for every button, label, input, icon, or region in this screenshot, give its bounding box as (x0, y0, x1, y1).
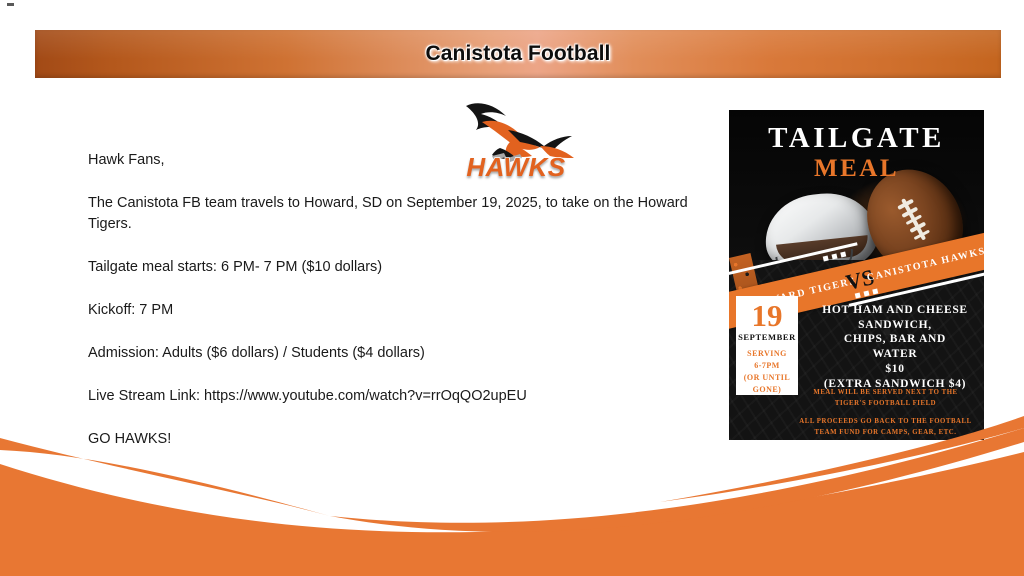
bottom-swoosh (0, 416, 1024, 576)
date-month: SEPTEMBER (736, 332, 798, 342)
flyer-title: TAILGATE MEAL (729, 124, 984, 184)
flyer-note-proceeds: ALL PROCEEDS GO BACK TO THE FOOTBALL TEA… (791, 417, 980, 439)
hawks-wordmark: HAWKS (448, 152, 584, 183)
tailgate-flyer: TAILGATE MEAL HOWARD TIGERS VS CANISTOTA… (729, 110, 984, 440)
flyer-note-location: MEAL WILL BE SERVED NEXT TO THE TIGER'S … (813, 389, 957, 407)
paragraph-greeting: Hawk Fans, (88, 150, 728, 171)
paragraph-live-stream-link[interactable]: Live Stream Link: https://www.youtube.co… (88, 386, 728, 407)
paragraph-tailgate: Tailgate meal starts: 6 PM- 7 PM ($10 do… (88, 257, 728, 278)
title-banner: Canistota Football (35, 30, 1001, 78)
date-number: 19 (736, 300, 798, 331)
body-copy: Hawk Fans, The Canistota FB team travels… (88, 150, 728, 450)
slide-canvas: Canistota Football Hawk Fans, The Canist… (0, 0, 1024, 576)
hawks-logo: HAWKS (448, 96, 584, 182)
page-title: Canistota Football (35, 42, 1001, 66)
flyer-notes: MEAL WILL BE SERVED NEXT TO THE TIGER'S … (791, 388, 980, 439)
paragraph-kickoff: Kickoff: 7 PM (88, 300, 728, 321)
flyer-title-meal: MEAL (729, 155, 984, 184)
flyer-title-tailgate: TAILGATE (729, 124, 984, 153)
corner-artifact (7, 3, 14, 6)
serving-hours: SERVING 6-7PM (OR UNTIL GONE) (736, 348, 798, 396)
date-box: 19 SEPTEMBER SERVING 6-7PM (OR UNTIL GON… (736, 296, 798, 395)
menu-text: HOT HAM AND CHEESE SANDWICH, CHIPS, BAR … (811, 303, 979, 391)
paragraph-game-info: The Canistota FB team travels to Howard,… (88, 193, 726, 235)
paragraph-admission: Admission: Adults ($6 dollars) / Student… (88, 343, 728, 364)
